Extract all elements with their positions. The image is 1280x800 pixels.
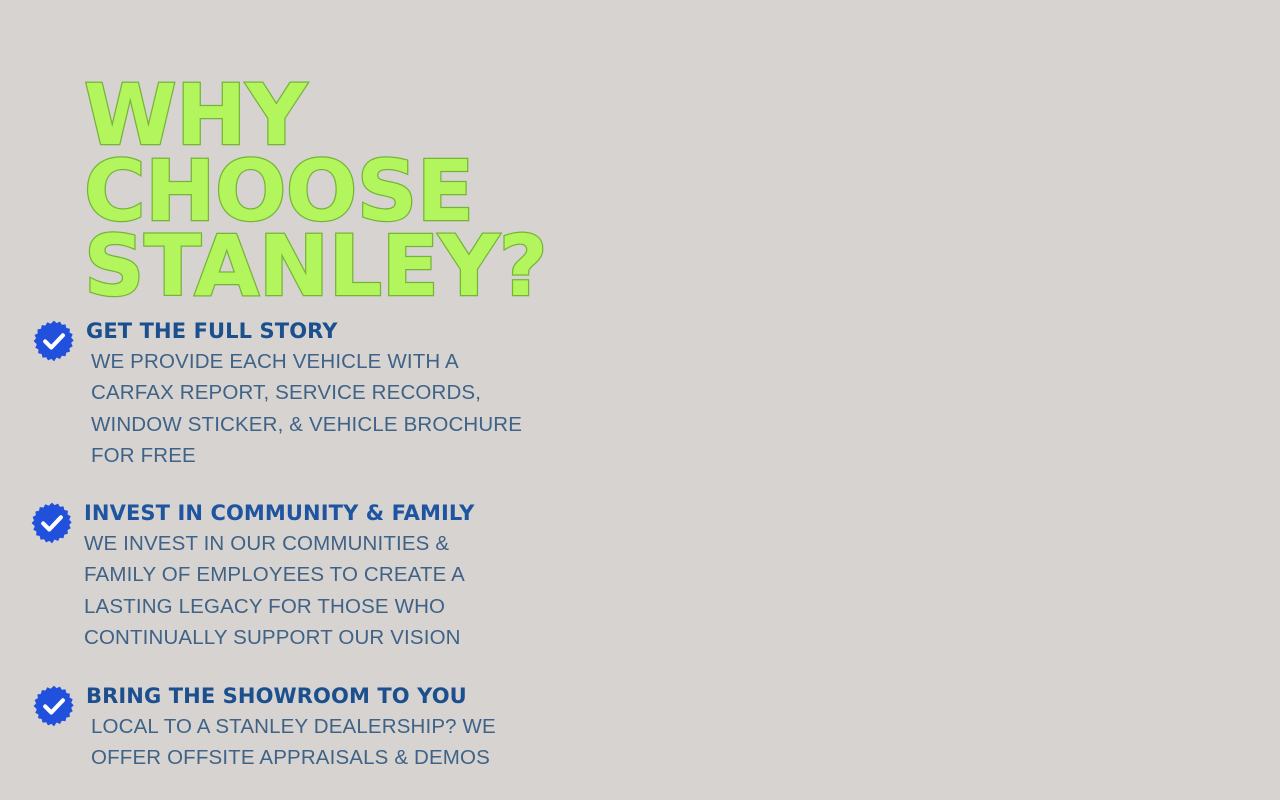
verified-check-badge-icon <box>32 319 76 363</box>
feature-text: GET THE FULL STORY WE PROVIDE EACH VEHIC… <box>86 318 612 471</box>
feature-bring-the-showroom-to-you: BRING THE SHOWROOM TO YOU LOCAL TO A STA… <box>32 683 612 774</box>
left-column: WHY CHOOSE STANLEY? GET THE FULL STORY W… <box>0 0 640 800</box>
page-title: WHY CHOOSE STANLEY? <box>84 78 624 305</box>
feature-text: BRING THE SHOWROOM TO YOU LOCAL TO A STA… <box>86 683 612 774</box>
why-choose-stanley-infographic: WHY CHOOSE STANLEY? GET THE FULL STORY W… <box>0 0 1280 800</box>
feature-body: WE PROVIDE EACH VEHICLE WITH A CARFAX RE… <box>86 346 612 471</box>
feature-get-full-story: GET THE FULL STORY WE PROVIDE EACH VEHIC… <box>32 318 612 471</box>
verified-check-badge-icon <box>32 684 76 728</box>
feature-title: INVEST IN COMMUNITY & FAMILY <box>84 500 610 527</box>
feature-title: BRING THE SHOWROOM TO YOU <box>86 683 612 710</box>
feature-title: GET THE FULL STORY <box>86 318 612 345</box>
feature-body: LOCAL TO A STANLEY DEALERSHIP? WE OFFER … <box>86 711 612 773</box>
feature-invest-in-community-and-family: INVEST IN COMMUNITY & FAMILY WE INVEST I… <box>30 500 610 653</box>
right-column: NO HIDDEN DEALER FEES NO ADDENDUMS, ADD … <box>640 0 1280 800</box>
feature-body: WE INVEST IN OUR COMMUNITIES & FAMILY OF… <box>84 528 610 653</box>
verified-check-badge-icon <box>30 501 74 545</box>
feature-text: INVEST IN COMMUNITY & FAMILY WE INVEST I… <box>84 500 610 653</box>
